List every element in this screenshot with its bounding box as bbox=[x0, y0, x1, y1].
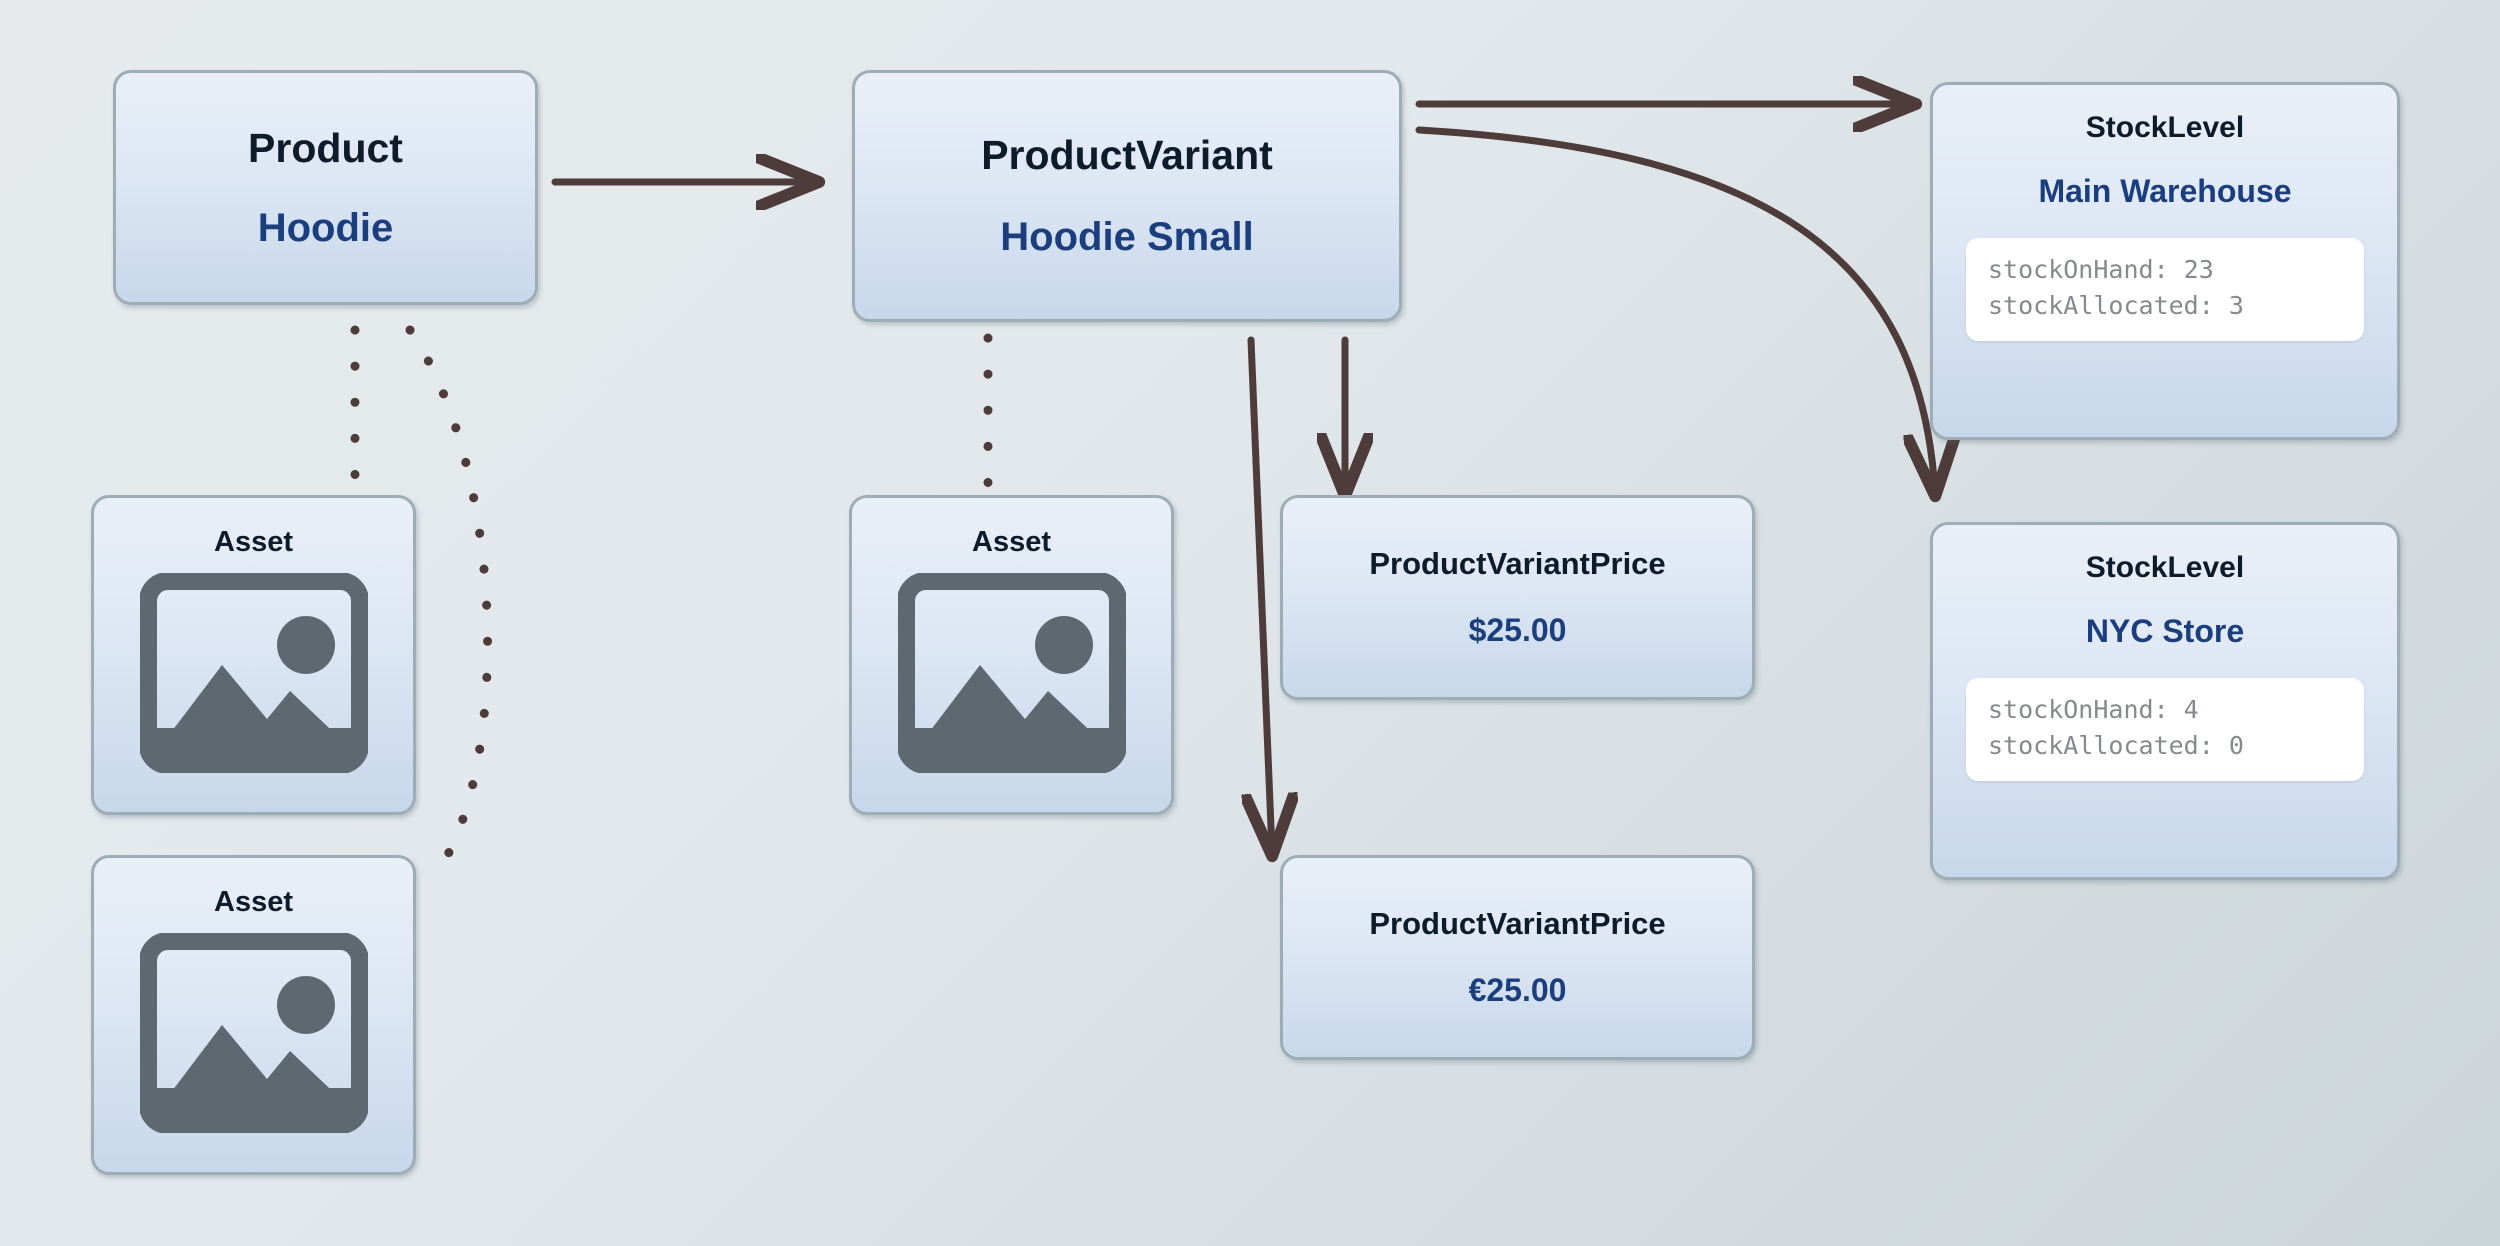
node-asset-product-1-type: Asset bbox=[214, 526, 293, 559]
node-stock-main-type: StockLevel bbox=[2086, 111, 2244, 145]
node-price-usd-value: $25.00 bbox=[1469, 612, 1567, 649]
node-asset-product-2[interactable]: Asset bbox=[91, 855, 416, 1175]
node-price-usd-type: ProductVariantPrice bbox=[1369, 546, 1665, 582]
node-stock-nyc-name: NYC Store bbox=[2086, 613, 2244, 650]
node-product-variant-type: ProductVariant bbox=[981, 132, 1273, 179]
node-stock-main-code: stockOnHand: 23 stockAllocated: 3 bbox=[1966, 238, 2364, 341]
node-price-eur-type: ProductVariantPrice bbox=[1369, 906, 1665, 942]
edge-variant-to-stock-nyc bbox=[1419, 130, 1935, 492]
node-product-name: Hoodie bbox=[258, 206, 394, 251]
node-asset-variant-type: Asset bbox=[972, 526, 1051, 559]
node-price-usd[interactable]: ProductVariantPrice $25.00 bbox=[1280, 495, 1755, 700]
edge-variant-to-price-eur bbox=[1251, 340, 1272, 852]
node-price-eur-value: €25.00 bbox=[1469, 972, 1567, 1009]
node-price-eur[interactable]: ProductVariantPrice €25.00 bbox=[1280, 855, 1755, 1060]
node-product[interactable]: Product Hoodie bbox=[113, 70, 538, 305]
node-product-type: Product bbox=[248, 125, 403, 172]
image-placeholder-icon bbox=[140, 933, 368, 1133]
edge-product-to-asset-2 bbox=[410, 330, 488, 868]
node-stock-main-warehouse[interactable]: StockLevel Main Warehouse stockOnHand: 2… bbox=[1930, 82, 2400, 440]
node-stock-main-name: Main Warehouse bbox=[2038, 173, 2291, 210]
node-stock-nyc-store[interactable]: StockLevel NYC Store stockOnHand: 4 stoc… bbox=[1930, 522, 2400, 880]
node-asset-variant[interactable]: Asset bbox=[849, 495, 1174, 815]
node-asset-product-1[interactable]: Asset bbox=[91, 495, 416, 815]
node-product-variant-name: Hoodie Small bbox=[1000, 215, 1253, 260]
diagram-canvas: Product Hoodie ProductVariant Hoodie Sma… bbox=[0, 0, 2500, 1246]
node-asset-product-2-type: Asset bbox=[214, 886, 293, 919]
node-stock-nyc-code: stockOnHand: 4 stockAllocated: 0 bbox=[1966, 678, 2364, 781]
node-product-variant[interactable]: ProductVariant Hoodie Small bbox=[852, 70, 1402, 322]
image-placeholder-icon bbox=[898, 573, 1126, 773]
node-stock-nyc-type: StockLevel bbox=[2086, 551, 2244, 585]
image-placeholder-icon bbox=[140, 573, 368, 773]
